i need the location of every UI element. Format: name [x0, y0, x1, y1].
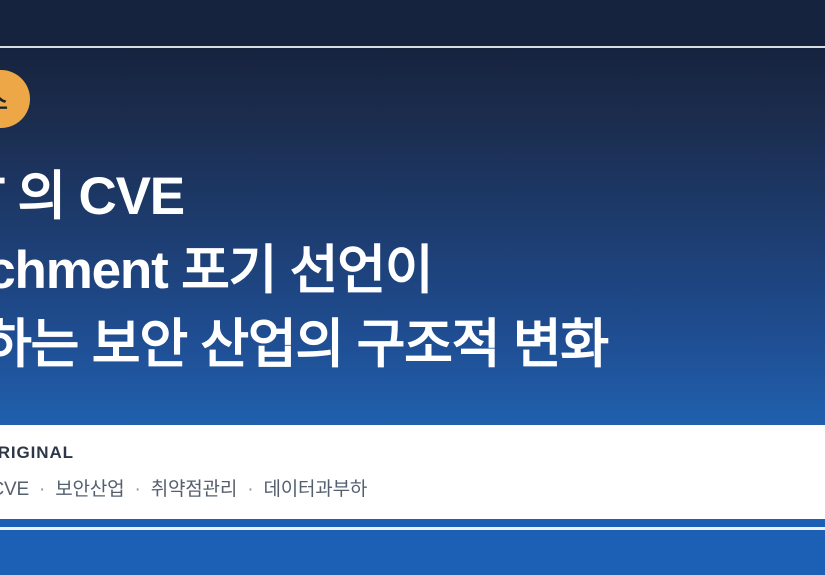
tag-item-vulnerability-management[interactable]: 취약점관리	[151, 479, 237, 500]
tag-separator: ·	[129, 479, 145, 500]
tag-separator: ·	[242, 479, 258, 500]
tag-item-security-industry[interactable]: 보안산업	[55, 479, 124, 500]
article-meta-band: DEE2 ORIGINAL NIST · CVE · 보안산업 · 취약점관리 …	[0, 425, 825, 519]
top-navigation-bar[interactable]	[0, 0, 825, 46]
category-badge-label: 보안 뉴스	[0, 82, 8, 116]
bottom-divider	[0, 527, 825, 530]
original-label: DEE2 ORIGINAL	[0, 443, 74, 463]
category-badge[interactable]: 보안 뉴스	[0, 70, 30, 128]
page-title-line-3: 시사하는 보안 산업의 구조적 변화	[0, 308, 825, 382]
page-title: NIST 의 CVE Enrichment 포기 선언이 시사하는 보안 산업의…	[0, 160, 825, 382]
article-hero-card: 보안 뉴스 NIST 의 CVE Enrichment 포기 선언이 시사하는 …	[0, 0, 825, 575]
tag-separator: ·	[34, 479, 50, 500]
hero-banner: 보안 뉴스 NIST 의 CVE Enrichment 포기 선언이 시사하는 …	[0, 48, 825, 425]
tag-item-cve[interactable]: CVE	[0, 479, 29, 500]
page-title-line-2: Enrichment 포기 선언이	[0, 234, 825, 308]
tag-list: NIST · CVE · 보안산업 · 취약점관리 · 데이터과부하	[0, 474, 367, 501]
tag-item-data-overload[interactable]: 데이터과부하	[263, 479, 367, 500]
page-title-line-1: NIST 의 CVE	[0, 160, 825, 234]
